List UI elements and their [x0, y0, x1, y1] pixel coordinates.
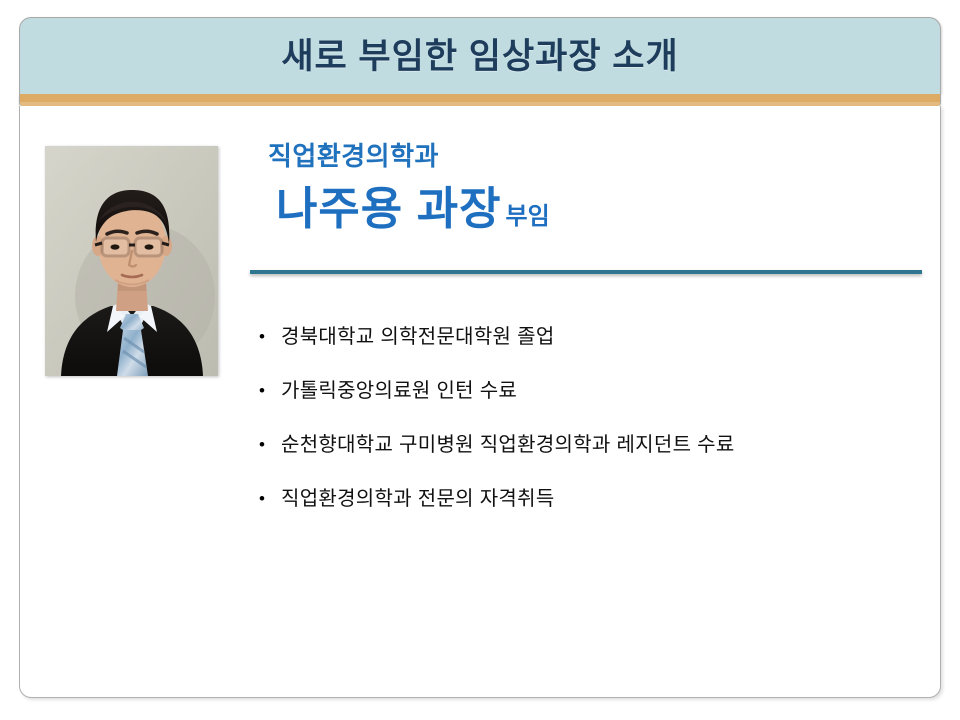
credentials-list: • 경북대학교 의학전문대학원 졸업 • 가톨릭중앙의료원 인턴 수료 • 순천… [255, 322, 915, 538]
list-item: • 경북대학교 의학전문대학원 졸업 [255, 322, 915, 376]
list-item-label: 순천향대학교 구미병원 직업환경의학과 레지던트 수료 [281, 430, 735, 460]
list-item-label: 가톨릭중앙의료원 인턴 수료 [281, 376, 517, 406]
list-item-label: 경북대학교 의학전문대학원 졸업 [281, 322, 555, 352]
appointment-suffix: 부임 [502, 205, 550, 231]
title-accent-bar [19, 94, 941, 106]
name-text: 나주용 과장 [276, 186, 502, 231]
bullet-dot-icon: • [255, 484, 281, 514]
list-item: • 가톨릭중앙의료원 인턴 수료 [255, 376, 915, 430]
portrait-photo-image [45, 146, 218, 376]
slide-root: 새로 부임한 임상과장 소개 [0, 0, 960, 720]
portrait-photo [45, 146, 218, 376]
name-heading: 나주용 과장 부임 [276, 186, 550, 231]
page-title: 새로 부임한 임상과장 소개 [281, 39, 678, 74]
bullet-dot-icon: • [255, 430, 281, 460]
slide-title-banner: 새로 부임한 임상과장 소개 [19, 17, 941, 94]
bullet-dot-icon: • [255, 376, 281, 406]
heading-divider-rule [250, 270, 922, 274]
department-label: 직업환경의학과 [268, 142, 439, 171]
bullet-dot-icon: • [255, 322, 281, 352]
list-item: • 순천향대학교 구미병원 직업환경의학과 레지던트 수료 [255, 430, 915, 484]
list-item: • 직업환경의학과 전문의 자격취득 [255, 484, 915, 538]
list-item-label: 직업환경의학과 전문의 자격취득 [281, 484, 555, 514]
